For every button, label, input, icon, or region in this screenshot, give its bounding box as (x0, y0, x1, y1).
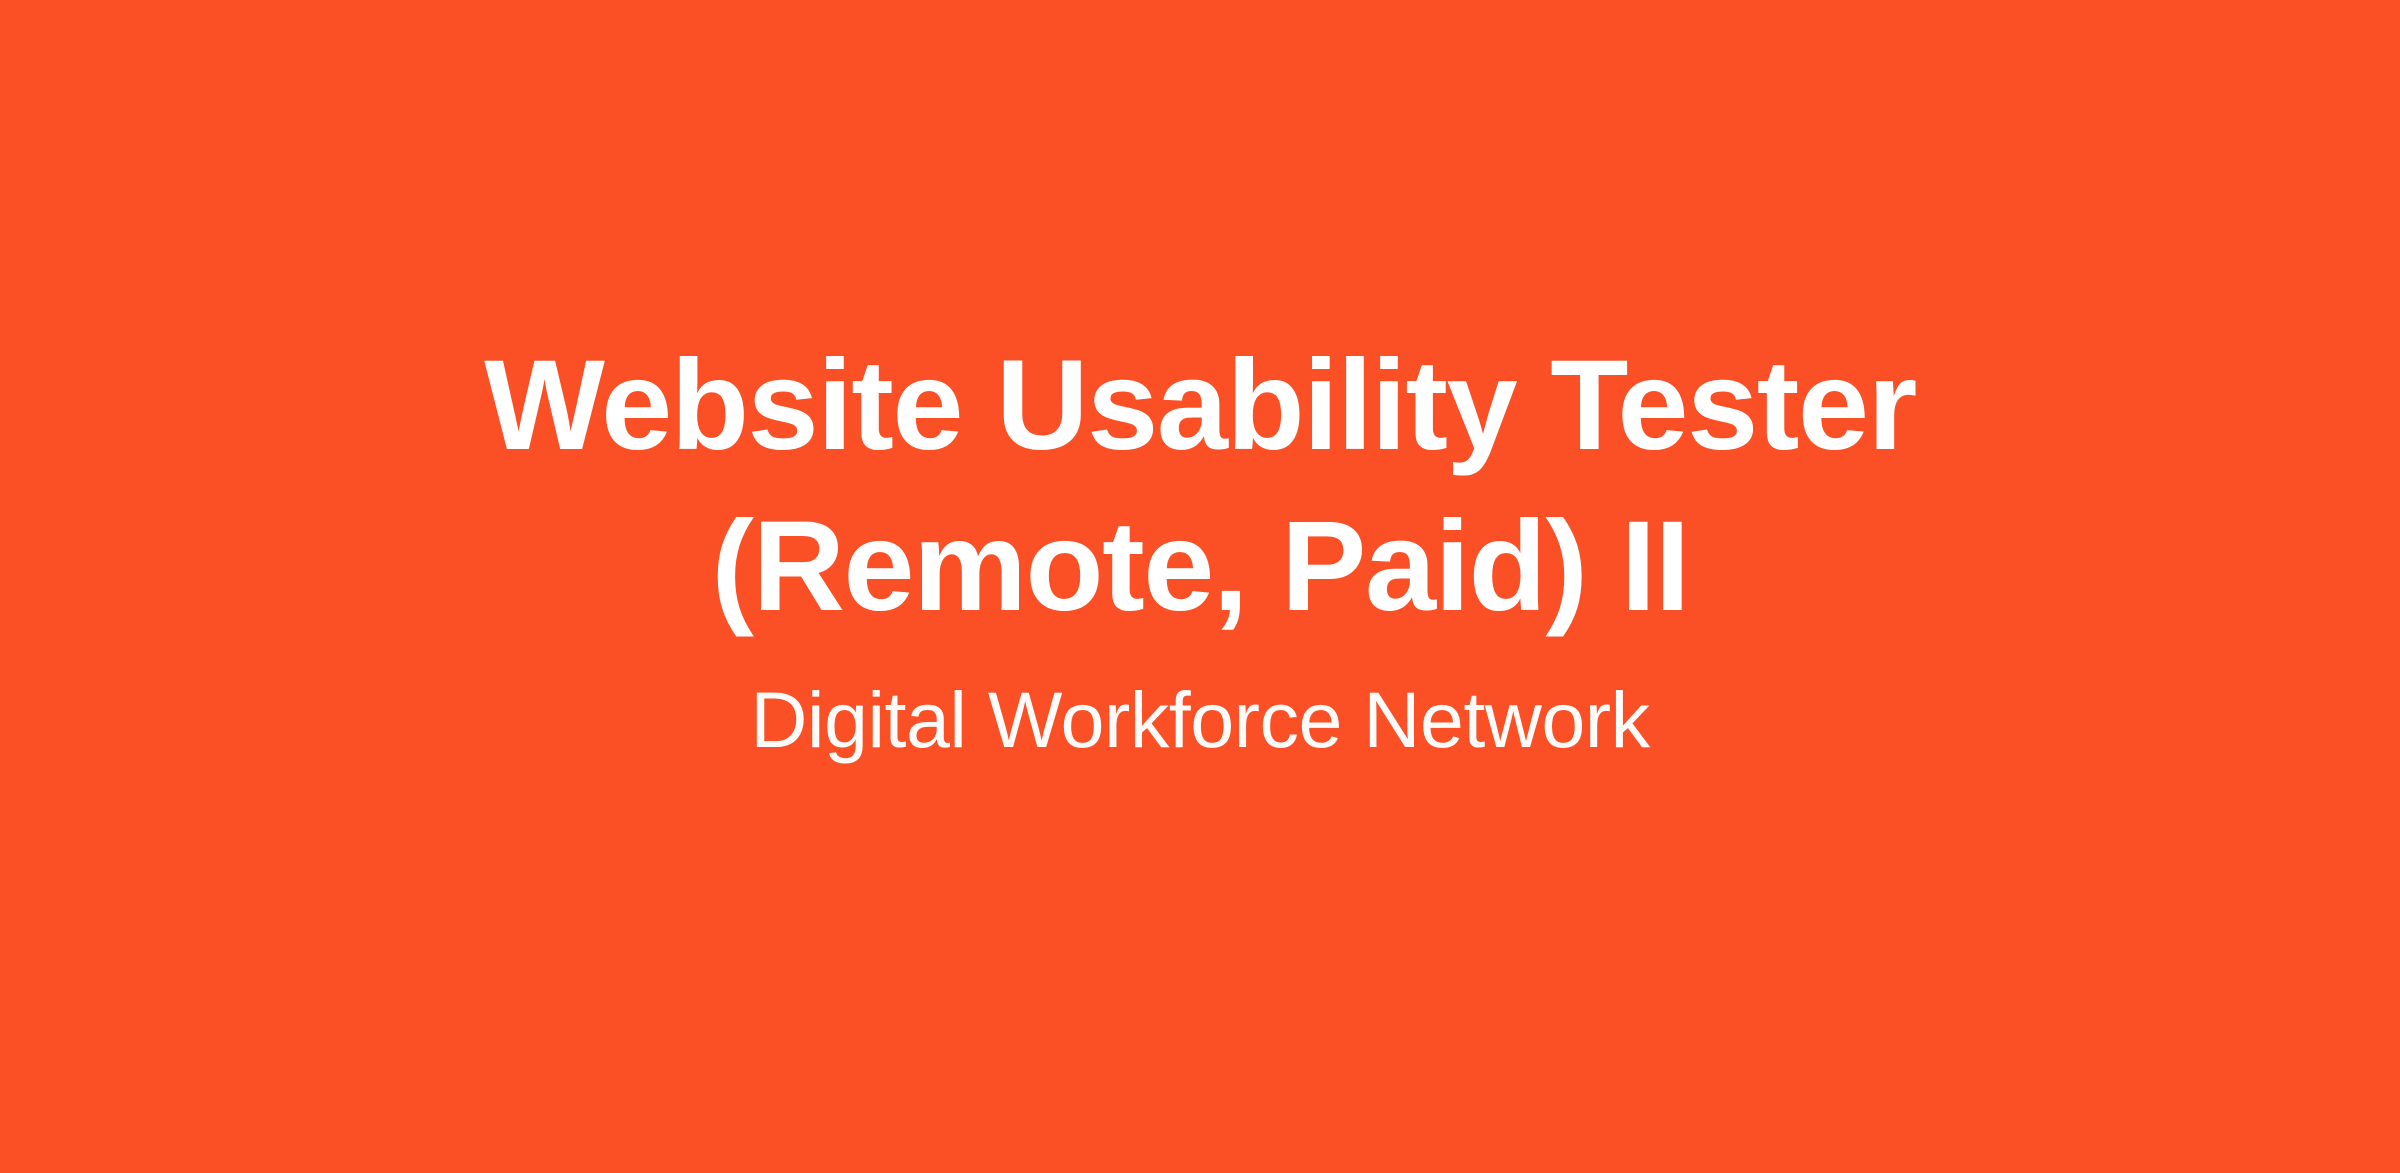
page-subtitle: Digital Workforce Network (750, 673, 1649, 768)
page-title: Website Usability Tester (Remote, Paid) … (470, 325, 1930, 648)
title-card-content: Website Usability Tester (Remote, Paid) … (420, 325, 1980, 768)
title-card: Website Usability Tester (Remote, Paid) … (0, 0, 2400, 1173)
